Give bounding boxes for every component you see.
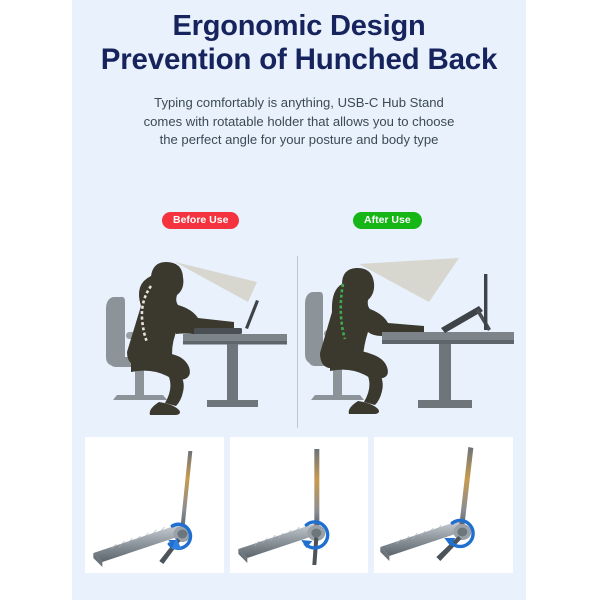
comparison-badges: Before Use After Use <box>72 212 526 232</box>
infographic-page: Ergonomic Design Prevention of Hunched B… <box>0 0 600 600</box>
sight-line-cone-icon <box>175 262 257 302</box>
desk-edge-after <box>382 340 514 344</box>
badge-after-use: After Use <box>353 212 422 229</box>
header: Ergonomic Design Prevention of Hunched B… <box>72 10 526 150</box>
desk-top-before <box>183 334 287 341</box>
holder-rod <box>180 451 192 529</box>
scene-divider <box>297 256 298 428</box>
page-title-line-2: Prevention of Hunched Back <box>72 43 526 76</box>
laptop-screen-before <box>245 300 259 329</box>
laptop-stand-icon <box>441 306 483 333</box>
hinge-knuckle-inner <box>177 530 187 539</box>
product-photo-2[interactable] <box>230 437 369 573</box>
chair-post-icon <box>135 367 144 396</box>
badge-before-use: Before Use <box>162 212 239 229</box>
sight-line-cone-icon <box>359 258 459 302</box>
chair-base-icon <box>113 395 167 400</box>
desk-post-after <box>439 344 451 400</box>
desk-foot-before <box>207 400 258 407</box>
holder-rod <box>314 449 319 527</box>
hinge-knuckle-inner <box>458 528 468 537</box>
illustration-after-use <box>299 240 526 430</box>
content-panel: Ergonomic Design Prevention of Hunched B… <box>72 0 526 600</box>
product-photo-strip <box>85 437 513 573</box>
product-photo-1[interactable] <box>85 437 224 573</box>
product-photo-3[interactable] <box>374 437 513 573</box>
laptop-base-before <box>194 328 242 334</box>
desk-top-after <box>382 332 514 340</box>
page-subtitle: Typing comfortably is anything, USB-C Hu… <box>72 94 526 150</box>
chair-backrest-icon <box>106 297 125 367</box>
illustration-before-use <box>72 240 299 430</box>
chair-post-icon <box>333 366 342 396</box>
stand-support-leg-icon <box>476 309 491 331</box>
desk-foot-after <box>418 400 472 408</box>
page-title-line-1: Ergonomic Design <box>72 10 526 43</box>
desk-post-before <box>227 344 238 400</box>
support-arm <box>312 537 318 565</box>
desk-edge-before <box>183 341 287 345</box>
comparison-illustrations <box>72 240 526 430</box>
holder-rod <box>460 447 474 526</box>
laptop-screen-after <box>484 274 487 330</box>
hinge-knuckle-inner <box>311 529 321 538</box>
chair-base-icon <box>311 395 364 400</box>
